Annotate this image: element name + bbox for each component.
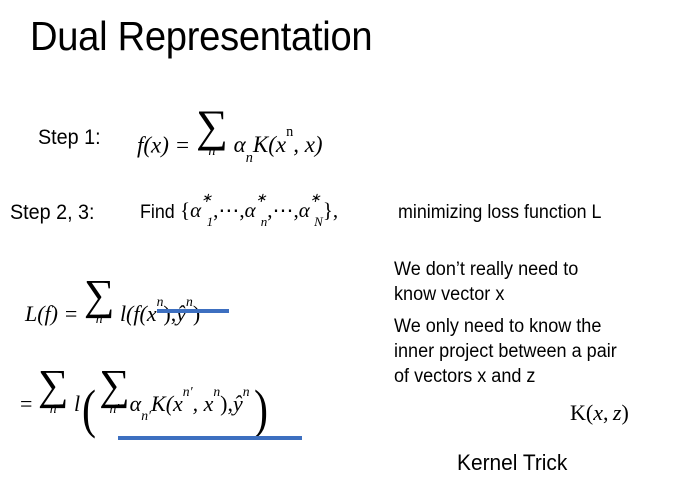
alpha-subscript: n (246, 150, 253, 166)
summation-symbol: ∑ n (196, 108, 228, 158)
underline-annotation-1 (157, 309, 229, 313)
yhat-glyph: ŷ (176, 301, 186, 326)
summation-symbol-inner: ∑ n′ (99, 368, 130, 416)
inner-f-open: f(x (133, 301, 156, 326)
loss-lhs: L(f) = (25, 301, 78, 326)
alpha-n: α∗n (245, 198, 268, 222)
yhat-term: ŷn (176, 301, 193, 326)
summation-symbol: ∑ n (84, 278, 115, 326)
alpha-1: α∗1 (190, 198, 213, 222)
kernel-tail: , x) (293, 132, 322, 157)
sigma-glyph: ∑ (99, 368, 130, 403)
step1-label: Step 1: (38, 125, 101, 152)
note-line-2: know vector x (394, 282, 617, 307)
kernel-expression: K(x, z) (570, 400, 629, 426)
note-line-5: of vectors x and z (394, 364, 617, 389)
alpha-sub-1: 1 (207, 214, 214, 229)
yhat-glyph: ŷ (233, 391, 243, 416)
step23-label: Step 2, 3: (10, 200, 95, 227)
kernel-sup-n: n (286, 124, 293, 140)
alpha-star: ∗ (256, 190, 267, 205)
brace-open: { (180, 198, 190, 222)
kernel-k-close: ) (621, 400, 628, 425)
sigma-glyph: ∑ (84, 278, 115, 313)
yhat-term: ŷn (233, 391, 250, 416)
kernel-comma: , (603, 400, 609, 425)
alpha-star: ∗ (310, 190, 321, 205)
sigma-glyph: ∑ (38, 368, 69, 403)
alpha-sub-n: n (261, 214, 268, 229)
yhat-sup: n (243, 384, 250, 399)
page-title: Dual Representation (30, 13, 372, 60)
loss-function-l: l( (120, 301, 133, 326)
kernel-sup-n: n (213, 384, 220, 399)
ellipsis-1: ⋯ (218, 198, 239, 222)
summation-symbol-outer: ∑ n (38, 368, 69, 416)
kernel-close: ), (220, 391, 233, 416)
note-line-3: We only need to know the (394, 314, 617, 339)
loss-function-l: l (74, 391, 80, 416)
minimizing-loss-text: minimizing loss function L (398, 201, 601, 225)
alpha-glyph: α (299, 198, 310, 222)
alpha-sub-nprime: n′ (141, 408, 151, 423)
kernel-open: K(x (253, 132, 286, 157)
ellipsis-2: ⋯ (272, 198, 293, 222)
kernel-k-open: K( (570, 400, 593, 425)
inner-f-term: f(xn), (133, 301, 176, 326)
equals-sign: = (20, 391, 32, 416)
sigma-glyph: ∑ (196, 108, 228, 145)
inner-f-sup: n (157, 294, 164, 309)
equation-alpha-set: {α∗1,⋯,α∗n,⋯,α∗N}, (180, 198, 338, 223)
equation-step1: f(x) = ∑ n αnK(xn, x) (137, 108, 323, 158)
note-line-4: inner project between a pair (394, 339, 617, 364)
slide-canvas: Dual Representation Step 1: f(x) = ∑ n α… (0, 0, 683, 487)
kernel-trick-caption: Kernel Trick (457, 450, 567, 476)
alpha-glyph: α (245, 198, 256, 222)
note-line-1: We don’t really need to (394, 257, 617, 282)
notes-spacer (394, 307, 617, 314)
loss-close-paren: ) (193, 301, 200, 326)
alpha-glyph: α (234, 132, 246, 157)
equation-loss-line1: L(f) = ∑ n l(f(xn),ŷn) (25, 278, 200, 327)
alpha-glyph: α (190, 198, 201, 222)
equation-loss-line2: = ∑ n l( ∑ n′ αn′K(xn′, xn),ŷn) (20, 368, 270, 417)
find-label: Find (140, 201, 175, 225)
eq1-lhs: f(x) = (137, 132, 190, 157)
underline-annotation-2 (118, 436, 302, 440)
notes-block: We don’t really need to know vector x We… (394, 257, 617, 389)
alpha-N: α∗N (299, 198, 323, 222)
kernel-arg-x: x (593, 400, 603, 425)
eq1-kernel: K(xn, x) (253, 132, 323, 157)
kernel-term: K(xn′, xn), (151, 391, 233, 416)
yhat-sup: n (186, 294, 193, 309)
alpha-sub-N: N (314, 214, 323, 229)
alpha-star: ∗ (201, 190, 212, 205)
brace-close: }, (323, 198, 338, 222)
alpha-glyph: α (130, 391, 142, 416)
inner-f-close: ), (163, 301, 176, 326)
alpha-nprime-term: αn′ (130, 391, 151, 416)
kernel-sup-nprime: n′ (183, 384, 193, 399)
kernel-mid: , x (193, 391, 214, 416)
eq1-alpha: αn (234, 132, 253, 157)
kernel-open: K(x (151, 391, 183, 416)
